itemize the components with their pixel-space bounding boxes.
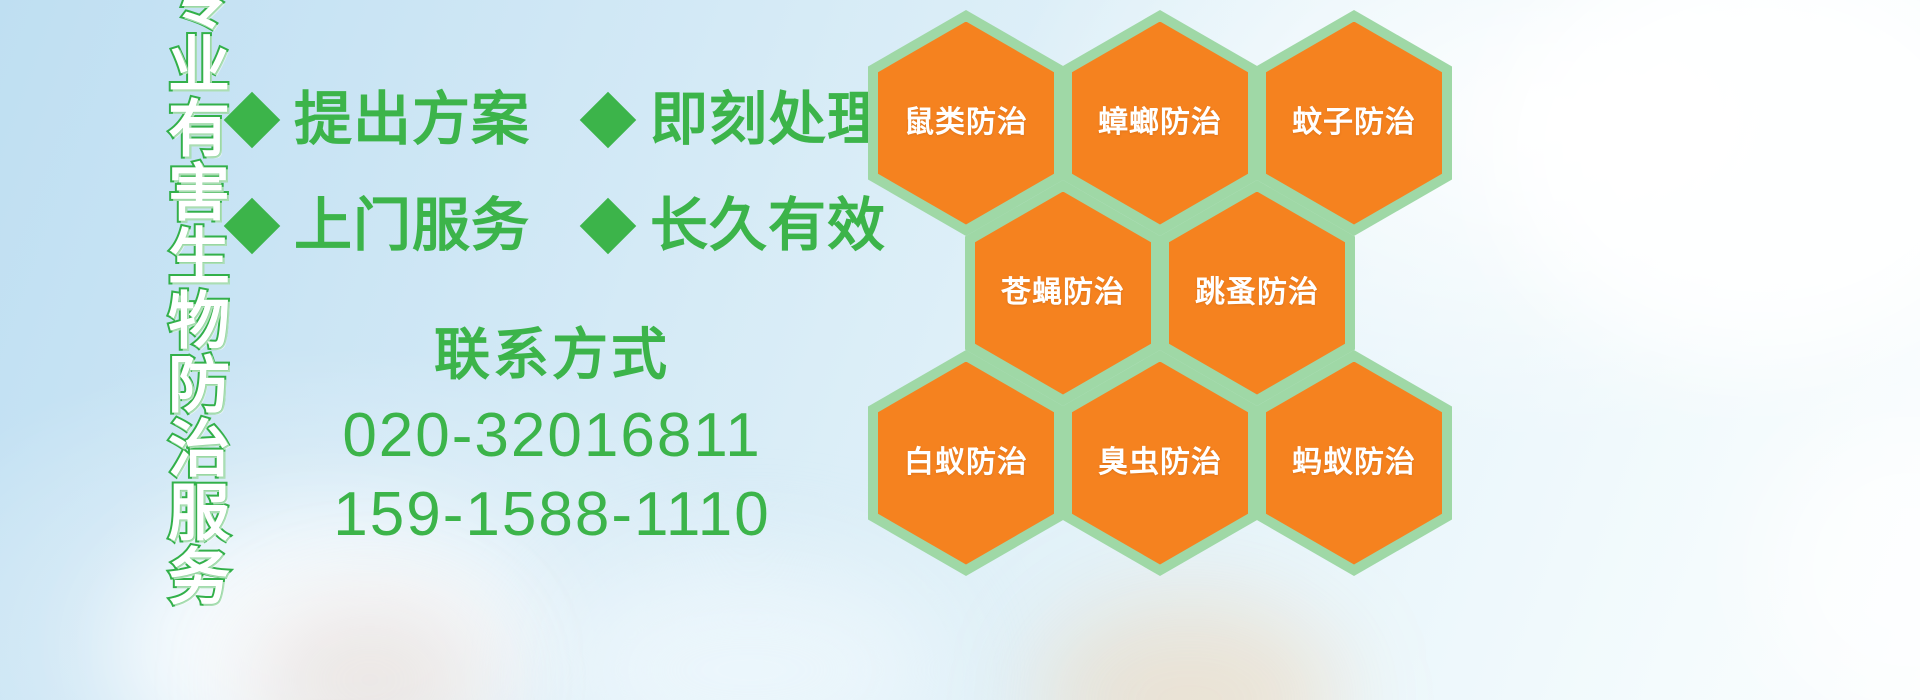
slogan-row-1: 提出方案 即刻处理 (232, 78, 872, 162)
service-label: 蚊子防治 (1292, 108, 1416, 138)
contact-phone-landline[interactable]: 020-32016811 (232, 396, 872, 475)
service-label: 苍蝇防治 (1001, 278, 1125, 308)
diamond-bullet-icon (224, 198, 281, 255)
background-blur-blob (1500, 0, 1920, 360)
background-blur-blob (560, 560, 940, 700)
slogan-item-door-to-door-service: 上门服务 (294, 197, 530, 255)
service-label: 鼠类防治 (904, 108, 1028, 138)
background-blur-blob (250, 600, 490, 700)
contact-block: 联系方式 020-32016811 159-1588-1110 (232, 320, 872, 555)
contact-phone-mobile[interactable]: 159-1588-1110 (232, 475, 872, 554)
hexagon-shape-icon: 苍蝇防治 (975, 192, 1151, 395)
hexagon-shape-icon: 跳蚤防治 (1169, 192, 1345, 395)
hexagon-shape-icon: 白蚁防治 (878, 362, 1054, 565)
hexagon-shape-icon: 蚂蚁防治 (1266, 362, 1442, 565)
hexagon-shape-icon: 鼠类防治 (878, 22, 1054, 225)
hexagon-shape-icon: 蚊子防治 (1266, 22, 1442, 225)
service-label: 白蚁防治 (904, 448, 1028, 478)
background-blur-blob (1760, 420, 1920, 700)
service-label: 蟑螂防治 (1098, 108, 1222, 138)
vertical-headline: 专业有害生物防治服务 (108, 8, 224, 568)
slogan-item-propose-plan: 提出方案 (294, 91, 530, 149)
service-label: 蚂蚁防治 (1292, 448, 1416, 478)
slogan-item-long-lasting-effect: 长久有效 (650, 197, 886, 255)
background-blur-blob (1040, 600, 1340, 700)
contact-title: 联系方式 (232, 320, 872, 390)
diamond-bullet-icon (580, 92, 637, 149)
diamond-bullet-icon (224, 92, 281, 149)
service-label: 跳蚤防治 (1195, 278, 1319, 308)
service-hexagon-grid: 鼠类防治 蟑螂防治 蚊子防治 苍蝇防治 跳蚤防治 白蚁防治 (862, 2, 1462, 562)
slogan-block: 提出方案 即刻处理 上门服务 长久有效 (232, 78, 872, 290)
pest-control-banner: 专业有害生物防治服务 提出方案 即刻处理 上门服务 长久有效 联系方式 020-… (0, 0, 1920, 700)
diamond-bullet-icon (580, 198, 637, 255)
hexagon-shape-icon: 蟑螂防治 (1072, 22, 1248, 225)
service-label: 臭虫防治 (1098, 448, 1222, 478)
slogan-row-2: 上门服务 长久有效 (232, 184, 872, 268)
hexagon-shape-icon: 臭虫防治 (1072, 362, 1248, 565)
slogan-item-immediate-handling: 即刻处理 (650, 91, 886, 149)
